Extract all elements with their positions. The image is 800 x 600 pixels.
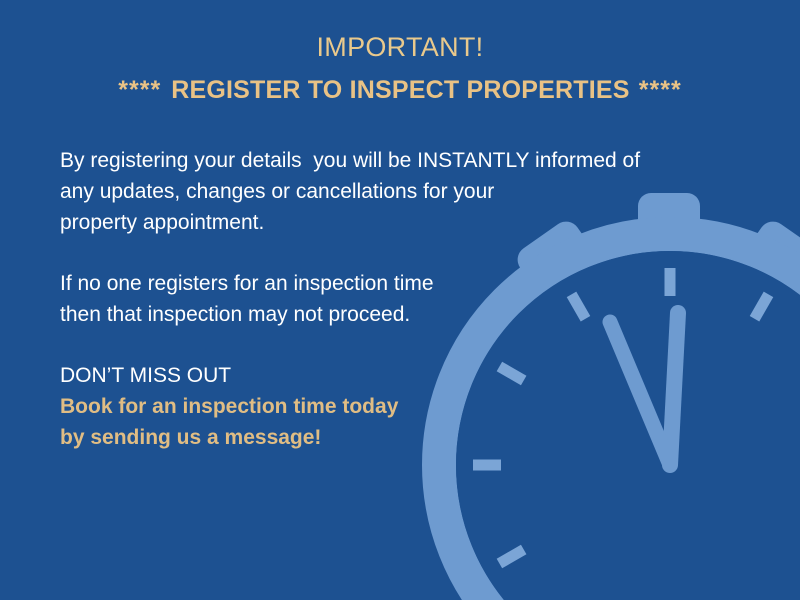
paragraph-registering-line-1: By registering your details you will be … — [60, 145, 740, 176]
page-subtitle: ****REGISTER TO INSPECT PROPERTIES **** — [0, 73, 800, 107]
paragraph-no-registration: If no one registers for an inspection ti… — [60, 268, 740, 330]
paragraph-no-registration-line-1: If no one registers for an inspection ti… — [60, 268, 740, 299]
paragraph-registering-line-2: any updates, changes or cancellations fo… — [60, 176, 740, 207]
paragraph-call-to-action: DON’T MISS OUT Book for an inspection ti… — [60, 360, 740, 453]
stopwatch-right-lug — [743, 216, 800, 294]
page-title: IMPORTANT! — [0, 30, 800, 64]
paragraph-registering-line-3: property appointment. — [60, 207, 740, 238]
heading-block: IMPORTANT! ****REGISTER TO INSPECT PROPE… — [0, 30, 800, 107]
page-subtitle-text: REGISTER TO INSPECT PROPERTIES — [171, 76, 629, 104]
cta-book-line-1: Book for an inspection time today — [60, 391, 740, 422]
body-block: By registering your details you will be … — [60, 145, 740, 453]
stars-left: **** — [118, 76, 161, 104]
slide-canvas: IMPORTANT! ****REGISTER TO INSPECT PROPE… — [0, 0, 800, 600]
cta-book-line-2: by sending us a message! — [60, 422, 740, 453]
stars-right: **** — [639, 76, 682, 104]
paragraph-no-registration-line-2: then that inspection may not proceed. — [60, 299, 740, 330]
paragraph-registering: By registering your details you will be … — [60, 145, 740, 238]
cta-dont-miss-out: DON’T MISS OUT — [60, 360, 740, 391]
